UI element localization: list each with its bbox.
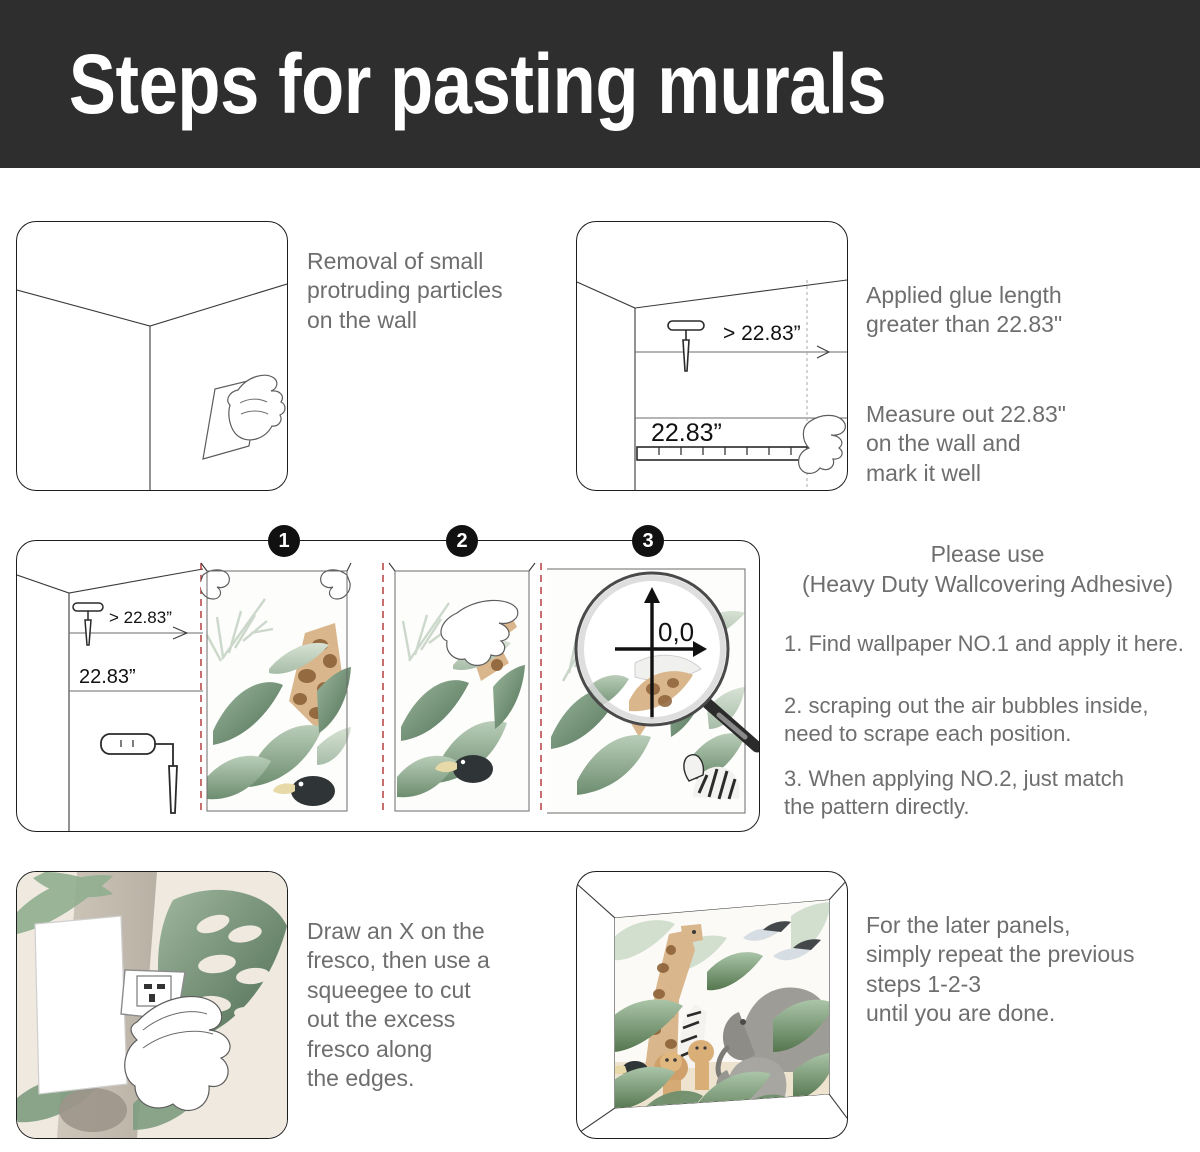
mural-strip-one xyxy=(200,570,351,811)
panel-apply-first-panels: > 22.83” 22.83” xyxy=(16,540,760,832)
step-badge-3: 3 xyxy=(632,525,664,557)
panel-squeegee-trim xyxy=(16,871,288,1139)
paint-roller-icon-2 xyxy=(73,603,103,645)
caption-wall-preparation: Removal of small protruding particles on… xyxy=(307,247,567,335)
svg-text:22.83”: 22.83” xyxy=(79,666,136,688)
step-badge-2: 2 xyxy=(446,525,478,557)
panel-wall-preparation xyxy=(16,221,288,491)
room-corner-sanding-illustration xyxy=(17,222,287,490)
step-badge-1: 1 xyxy=(268,525,300,557)
finished-room-illustration xyxy=(577,872,847,1138)
wall-mark-label: 22.83” xyxy=(651,419,722,447)
instruction-step-3: 3. When applying NO.2, just match the pa… xyxy=(784,765,1194,821)
panel-finished-room xyxy=(576,871,848,1139)
svg-text:> 22.83”: > 22.83” xyxy=(109,608,172,627)
caption-glue-length: Applied glue length greater than 22.83" xyxy=(866,281,1186,340)
page-header: Steps for pasting murals xyxy=(0,0,1200,168)
tape-measure-icon xyxy=(637,447,807,460)
squeegee-trim-illustration xyxy=(17,872,287,1138)
glue-measurement-illustration: > 22.83” 22.83” xyxy=(577,222,847,490)
jungle-mural-artwork xyxy=(607,896,837,1132)
page-title: Steps for pasting murals xyxy=(0,36,886,133)
large-roller-icon xyxy=(101,734,177,813)
mural-strip-two xyxy=(395,571,529,811)
glue-length-label: > 22.83” xyxy=(723,322,801,345)
origin-label: 0,0 xyxy=(658,617,694,647)
caption-measure-mark: Measure out 22.83" on the wall and mark … xyxy=(866,400,1186,488)
panel-glue-measurement: > 22.83” 22.83” xyxy=(576,221,848,491)
caption-finished-room: For the later panels, simply repeat the … xyxy=(866,911,1196,1029)
apply-panels-illustration: > 22.83” 22.83” xyxy=(17,541,759,831)
caption-squeegee-trim: Draw an X on the fresco, then use a sque… xyxy=(307,917,557,1094)
adhesive-name: (Heavy Duty Wallcovering Adhesive) xyxy=(775,570,1200,599)
paint-roller-icon xyxy=(668,321,704,371)
adhesive-heading: Please use xyxy=(775,540,1200,569)
instruction-step-1: 1. Find wallpaper NO.1 and apply it here… xyxy=(784,630,1194,658)
instruction-step-2: 2. scraping out the air bubbles inside, … xyxy=(784,692,1194,748)
